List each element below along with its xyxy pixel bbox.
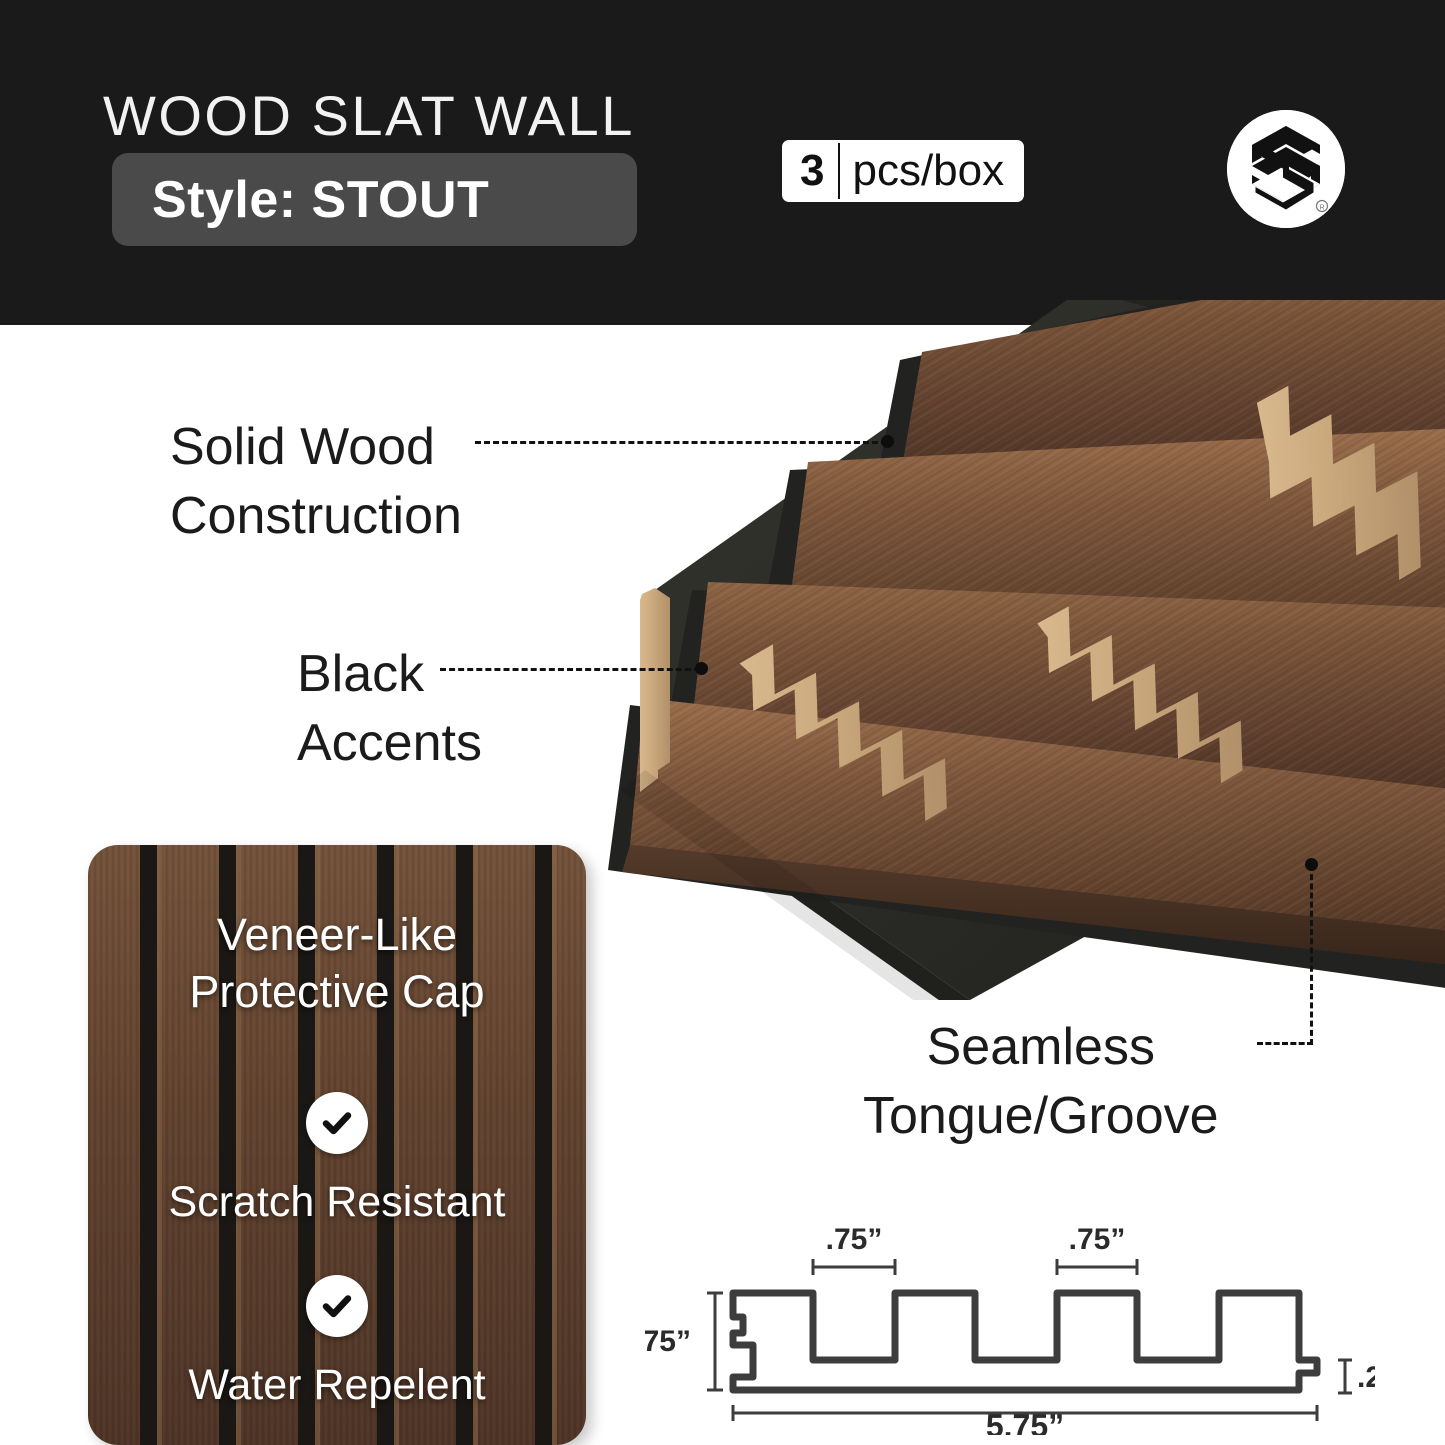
check-icon — [306, 1275, 368, 1337]
dimension-slat-width-1-label: .75” — [826, 1223, 883, 1256]
header-bar: WOOD SLAT WALL Style: STOUT 3 pcs/box — [0, 0, 1445, 325]
page-title: WOOD SLAT WALL — [103, 88, 635, 144]
card-heading: Veneer-Like Protective Cap — [189, 907, 484, 1020]
dimension-slat-width-1 — [813, 1259, 895, 1275]
dimension-slat-width-2 — [1057, 1259, 1137, 1275]
style-badge: Style: STOUT — [112, 153, 637, 246]
dimension-total-width-label: 5.75” — [986, 1408, 1064, 1435]
feature-label-water-repelent: Water Repelent — [188, 1361, 485, 1410]
dimension-backer-thickness-label: .25” — [1357, 1361, 1375, 1394]
feature-label-scratch-resistant: Scratch Resistant — [169, 1178, 506, 1227]
pcs-unit-label: pcs/box — [840, 140, 1024, 202]
dimension-backer-thickness — [1338, 1360, 1352, 1393]
style-badge-label: Style: STOUT — [152, 170, 489, 230]
pcs-per-box-badge: 3 pcs/box — [782, 140, 1024, 202]
dimension-slat-width-2-label: .75” — [1069, 1223, 1126, 1256]
dimension-diagram: .75” .75” .75” .25” — [645, 1205, 1375, 1435]
callout-solid-wood-construction: Solid Wood Construction — [170, 413, 462, 551]
callout-seamless-tongue-groove: Seamless Tongue/Groove — [863, 1013, 1219, 1151]
profile-outline — [733, 1293, 1317, 1390]
pcs-count: 3 — [782, 140, 838, 202]
callout-black-accents: Black Accents — [297, 640, 482, 778]
s-monogram-logo: R — [1227, 110, 1345, 228]
dimension-height-label: .75” — [645, 1325, 691, 1358]
check-icon — [306, 1092, 368, 1154]
product-infographic: WOOD SLAT WALL Style: STOUT 3 pcs/box — [0, 0, 1445, 1445]
feature-card: Veneer-Like Protective Cap Scratch Resis… — [88, 845, 586, 1445]
dimension-height — [707, 1293, 723, 1390]
svg-text:R: R — [1319, 205, 1324, 212]
wood-slat-panel-illustration — [600, 300, 1445, 1000]
